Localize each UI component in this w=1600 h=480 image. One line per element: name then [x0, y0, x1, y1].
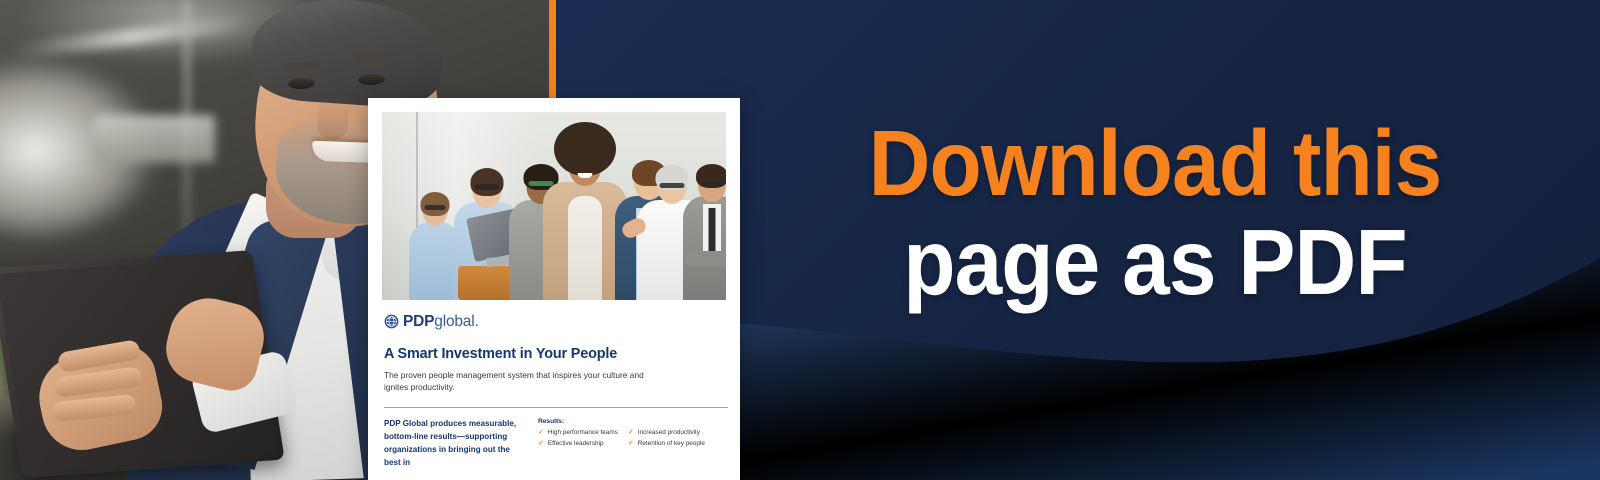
download-pdf-banner: Download this page as PDF [0, 0, 1600, 480]
headline-line-2: page as PDF [792, 217, 1519, 308]
headline-line-1: Download this [792, 118, 1519, 209]
pdp-globe-mark [384, 314, 399, 329]
result-item: ✓Increased productivity [628, 428, 705, 439]
nose [317, 95, 350, 141]
person-4-hair [554, 122, 616, 176]
pdp-global-logo: PDPglobal. [384, 314, 726, 330]
check-icon: ✓ [538, 439, 544, 450]
results-label: Results: [538, 418, 726, 425]
results-grid: ✓High performance teams ✓Effective leade… [538, 428, 726, 449]
grey-hair [249, 0, 446, 111]
person-7-glasses [700, 181, 724, 186]
logo-light-text: global [434, 313, 474, 330]
person-1-hair [421, 192, 450, 216]
results-column-2: ✓Increased productivity ✓Retention of ke… [628, 428, 705, 449]
team-photo [382, 112, 726, 300]
document-columns: PDP Global produces measurable, bottom-l… [384, 418, 726, 469]
person-6-glasses [660, 183, 685, 188]
people-group [382, 112, 726, 300]
person-4-blouse [568, 196, 602, 300]
person-2-hair [471, 168, 504, 196]
logo-trademark: . [474, 313, 478, 330]
result-item: ✓Retention of key people [628, 439, 705, 450]
headline: Download this page as PDF [760, 118, 1550, 308]
pdp-global-wordmark: PDPglobal. [403, 314, 479, 330]
result-label: High performance teams [548, 428, 618, 438]
result-label: Effective leadership [548, 439, 604, 449]
document-body-paragraph: PDP Global produces measurable, bottom-l… [384, 418, 524, 469]
result-label: Increased productivity [638, 428, 700, 438]
result-label: Retention of key people [638, 439, 705, 449]
logo-bold-text: PDP [403, 313, 434, 330]
person-7-crossed-arms [684, 251, 726, 266]
result-item: ✓High performance teams [538, 428, 618, 439]
results-block: Results: ✓High performance teams ✓Effect… [538, 418, 726, 469]
person-1-glasses [425, 205, 446, 210]
result-item: ✓Effective leadership [538, 439, 618, 450]
check-icon: ✓ [628, 439, 634, 450]
results-column-1: ✓High performance teams ✓Effective leade… [538, 428, 618, 449]
check-icon: ✓ [628, 428, 634, 439]
pdf-preview-card[interactable]: PDPglobal. A Smart Investment in Your Pe… [368, 98, 740, 480]
orange-rule [384, 407, 728, 409]
document-title: A Smart Investment in Your People [384, 346, 726, 362]
document-subtitle: The proven people management system that… [384, 369, 656, 393]
person-2-glasses [475, 184, 500, 190]
check-icon: ✓ [538, 428, 544, 439]
person-7 [682, 150, 726, 300]
